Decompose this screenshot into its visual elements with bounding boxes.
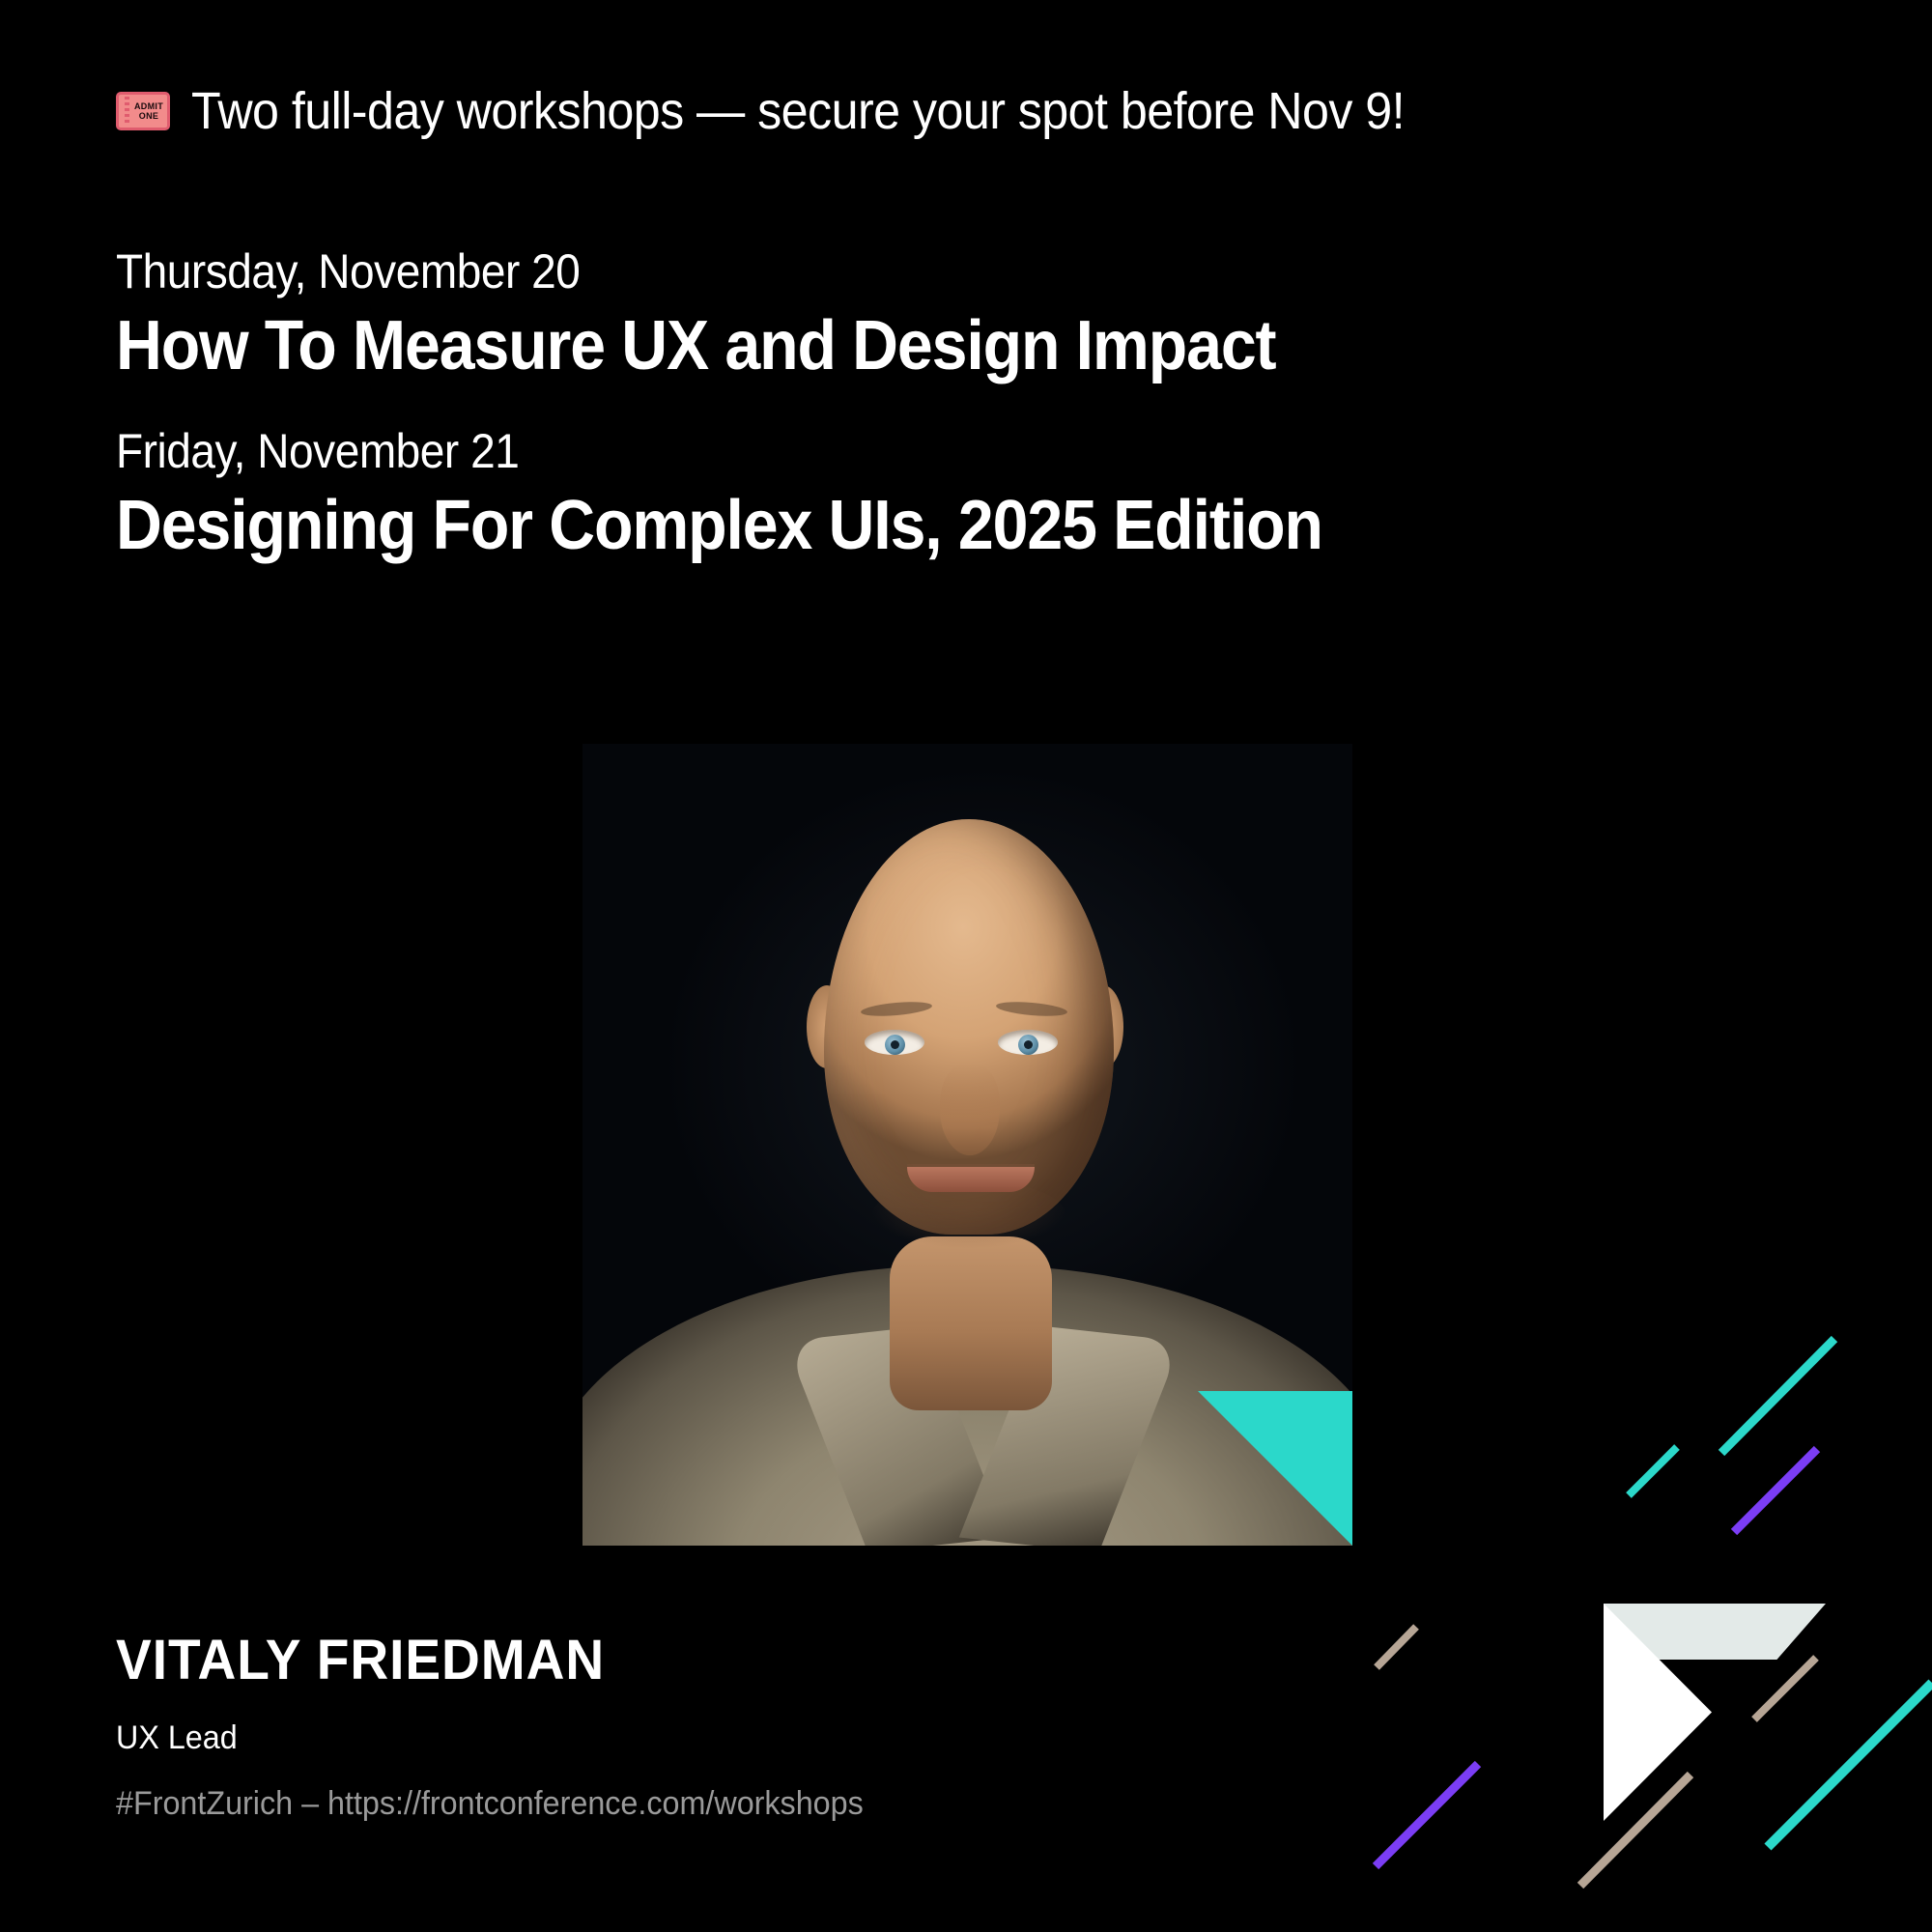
speaker-name: VITALY FRIEDMAN xyxy=(116,1633,864,1689)
diagonal-line-purple-2 xyxy=(1376,1764,1478,1866)
workshop-item: Friday, November 21 Designing For Comple… xyxy=(116,426,1427,563)
speaker-info: VITALY FRIEDMAN UX Lead #FrontZurich – h… xyxy=(116,1633,902,1820)
admit-one-ticket-icon: ADMIT ONE xyxy=(114,90,172,132)
diagonal-line-purple-1 xyxy=(1734,1449,1817,1532)
banner-text: Two full-day workshops — secure your spo… xyxy=(191,85,1405,137)
diagonal-line-teal-2 xyxy=(1629,1447,1677,1495)
workshop-title: How To Measure UX and Design Impact xyxy=(116,309,1322,384)
workshop-item: Thursday, November 20 How To Measure UX … xyxy=(116,246,1427,384)
diagonal-line-tan-1 xyxy=(1377,1627,1416,1667)
diagonal-line-teal-1 xyxy=(1721,1339,1834,1453)
teal-corner-triangle xyxy=(1198,1391,1352,1546)
ticket-label-line1: ADMIT xyxy=(134,101,163,111)
speaker-role: UX Lead xyxy=(116,1721,864,1754)
workshop-date: Thursday, November 20 xyxy=(116,246,1322,298)
workshop-date: Friday, November 21 xyxy=(116,426,1322,477)
speaker-portrait xyxy=(582,744,1352,1546)
front-conference-logo xyxy=(1604,1604,1826,1821)
poster-canvas: ADMIT ONE Two full-day workshops — secur… xyxy=(0,0,1932,1932)
portrait-eye-right xyxy=(998,1030,1058,1055)
portrait-nose xyxy=(940,1063,1000,1155)
workshop-list: Thursday, November 20 How To Measure UX … xyxy=(116,246,1427,564)
workshop-title: Designing For Complex UIs, 2025 Edition xyxy=(116,489,1322,564)
ticket-label-line2: ONE xyxy=(139,111,158,121)
banner: ADMIT ONE Two full-day workshops — secur… xyxy=(114,85,1496,137)
portrait-eye-left xyxy=(865,1030,924,1055)
portrait-mouth xyxy=(907,1167,1035,1192)
speaker-link[interactable]: #FrontZurich – https://frontconference.c… xyxy=(116,1787,864,1820)
portrait-neck xyxy=(890,1236,1052,1410)
